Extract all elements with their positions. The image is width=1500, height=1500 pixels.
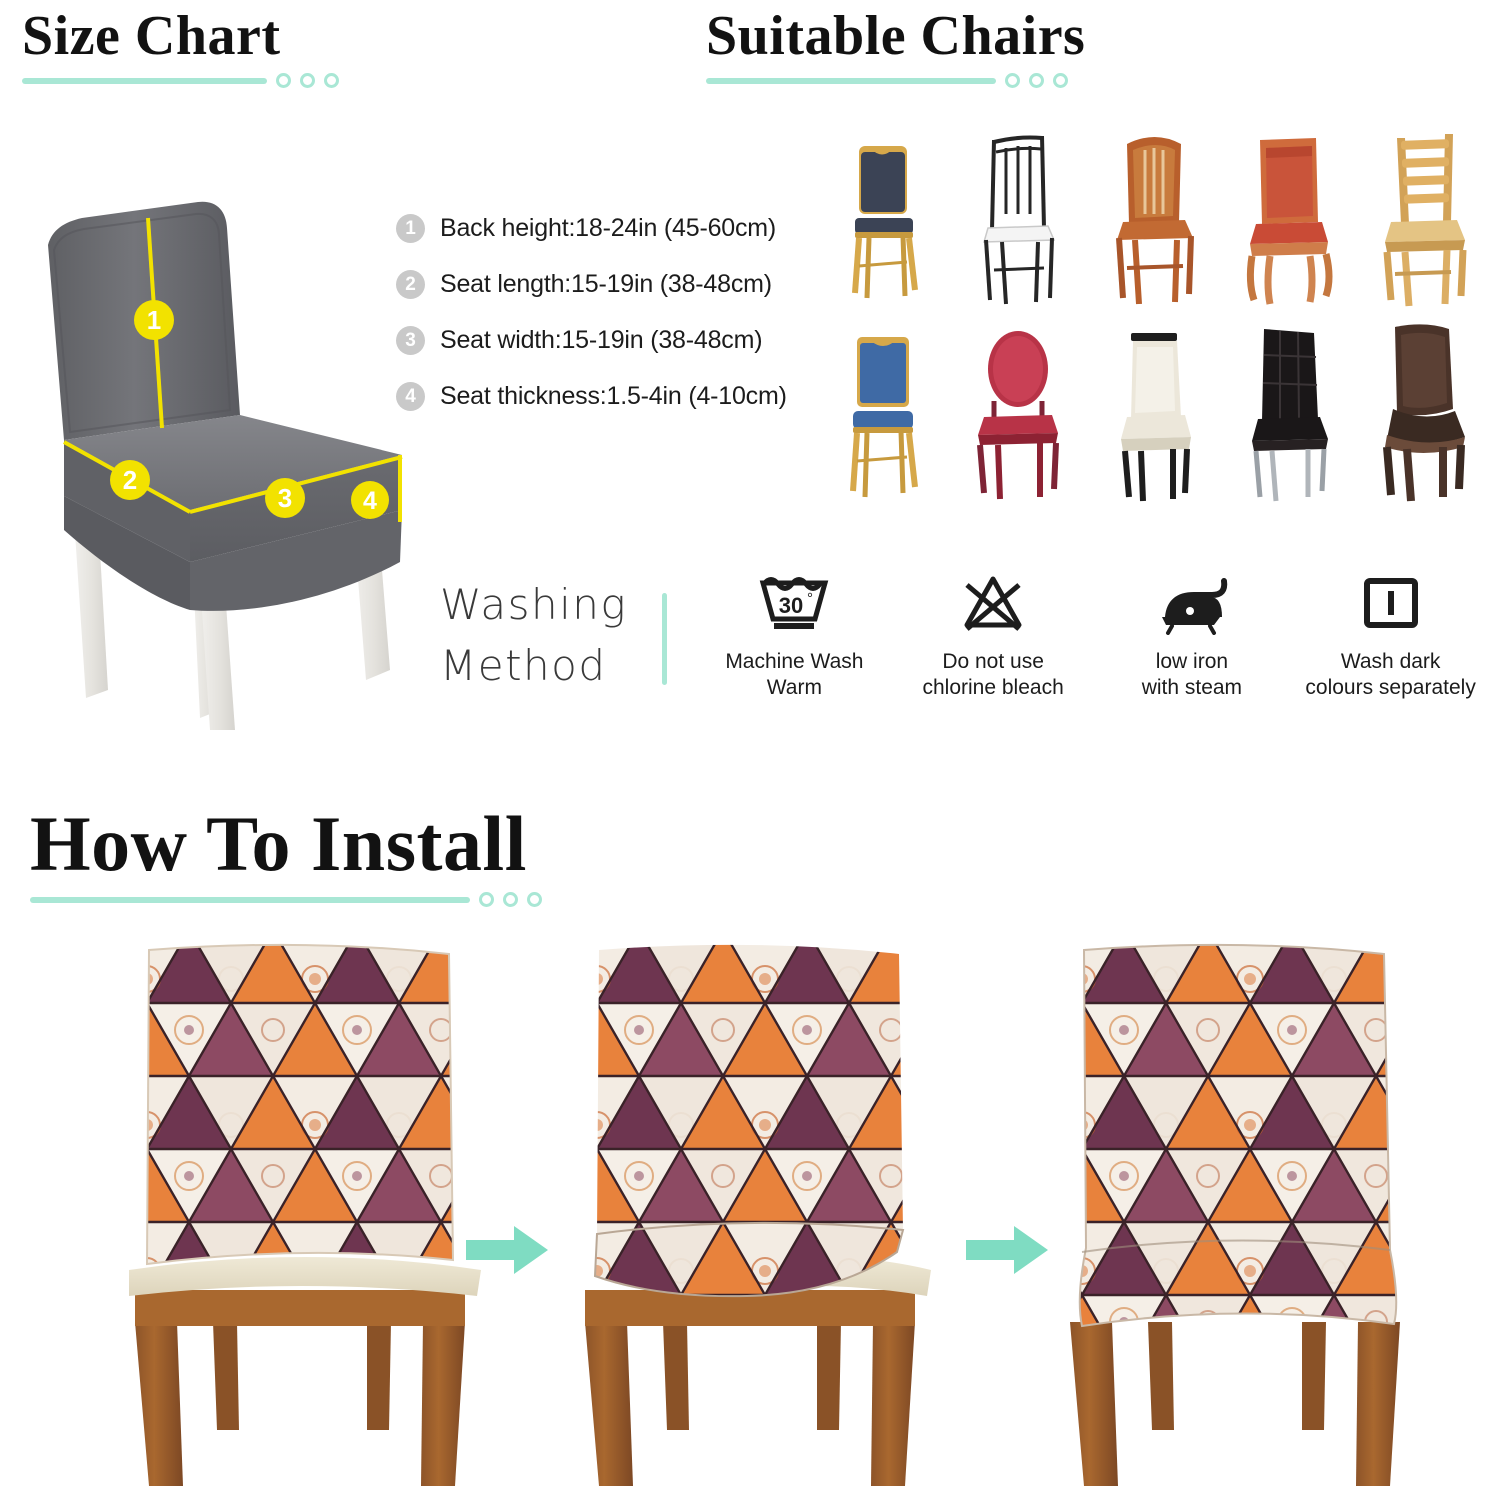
how-to-install-heading: How To Install [30,805,542,907]
no-chlorine-bleach-icon [894,565,1093,643]
measurement-label: Seat length:15-19in (38-48cm) [440,270,772,299]
care-caption-line2: chlorine bleach [894,675,1093,701]
measurement-label: Seat width:15-19in (38-48cm) [440,326,762,355]
care-caption-line2: with steam [1093,675,1292,701]
chair-cover-backrest [597,945,903,1234]
how-to-install-title: How To Install [30,805,542,883]
svg-text:2: 2 [123,465,137,495]
washing-label-line1: Washing [440,575,640,636]
care-caption-line1: Wash dark [1291,649,1490,675]
chair-cream-dining-chair-black-legs [1085,313,1220,508]
washing-icons-row: 30 ° Machine Wash Warm Do not use chlori [695,565,1490,700]
measurement-row: 1 Back height:18-24in (45-60cm) [396,200,826,256]
suitable-chairs-grid [815,118,1490,508]
marker-badge-2: 2 [110,460,150,500]
care-caption-line1: low iron [1093,649,1292,675]
washing-method-section: Washing Method 30 ° Machine Wash Warm [440,565,1490,740]
rule-bar [30,897,470,903]
chair-black-metal-chair-white-seat [950,118,1085,313]
step-arrow-2 [962,1220,1052,1280]
chair-wooden-fan-back-chair [1085,118,1220,313]
washing-method-label: Washing Method [440,575,640,697]
install-step-1-cover-on-backrest [105,930,505,1490]
measurement-badge: 3 [396,326,425,355]
wash-degree-symbol: ° [807,590,813,607]
chair-leg-front-right [871,1322,915,1486]
chair-leg-rear-left [213,1322,239,1430]
rule-dot [300,73,315,88]
marker-badge-3: 3 [265,478,305,518]
svg-text:1: 1 [147,305,161,335]
care-caption: Wash dark colours separately [1291,649,1490,700]
chair-leg-front-right [1356,1322,1400,1486]
wash-temperature: 30 [779,593,803,618]
chair-leg-rear-left [663,1322,689,1430]
chair-gold-banquet-chair-navy-seat [815,118,950,313]
chair-cover-full [1080,945,1397,1326]
chair-leg-rear-right [367,1322,391,1430]
marker-badge-1: 1 [134,300,174,340]
rule-dot [1029,73,1044,88]
care-caption: low iron with steam [1093,649,1292,700]
chair-leg-rear-left [1148,1322,1174,1430]
rule-dot [1005,73,1020,88]
washing-label-line2: Method [440,636,640,697]
rule-dot [527,892,542,907]
care-caption: Machine Wash Warm [695,649,894,700]
rule-dot [1053,73,1068,88]
chair-crimson-round-back-chair [950,313,1085,508]
care-caption-line1: Machine Wash [695,649,894,675]
size-chart-chair-illustration: 1 2 3 4 [30,110,430,730]
chair-leg-front-right [421,1322,465,1486]
care-item-no-bleach: Do not use chlorine bleach [894,565,1093,700]
care-caption-line1: Do not use [894,649,1093,675]
svg-text:4: 4 [363,487,377,515]
rule-dot [276,73,291,88]
care-caption-line2: Warm [695,675,894,701]
chair-leg-front-left [1070,1322,1118,1486]
care-caption: Do not use chlorine bleach [894,649,1093,700]
install-step-3-cover-fully-installed [1040,930,1440,1490]
chair-apron [135,1290,465,1326]
size-chart-heading: Size Chart [22,8,339,88]
suitable-chairs-heading: Suitable Chairs [706,8,1085,88]
svg-text:3: 3 [278,483,292,513]
suitable-chairs-rule [706,73,1085,88]
size-chart-rule [22,73,339,88]
rule-bar [706,78,996,84]
size-chart-title: Size Chart [22,8,339,64]
measurement-label: Seat thickness:1.5-4in (4-10cm) [440,382,787,411]
rule-bar [22,78,267,84]
chair-leg-front-left [585,1322,633,1486]
chair-cover-backrest [147,945,453,1264]
how-to-install-rule [30,892,542,907]
chair-leg-rear-right [817,1322,841,1430]
machine-wash-tub-icon: 30 ° [695,565,894,643]
measurement-label: Back height:18-24in (45-60cm) [440,214,776,243]
measurement-row: 2 Seat length:15-19in (38-48cm) [396,256,826,312]
care-item-low-iron: low iron with steam [1093,565,1292,700]
care-caption-line2: colours separately [1291,675,1490,701]
install-step-2-cover-draped-over-seat [555,930,955,1490]
washing-divider [662,593,667,685]
measurement-row: 4 Seat thickness:1.5-4in (4-10cm) [396,368,826,424]
chair-gold-banquet-chair-blue-seat [815,313,950,508]
care-item-wash-dark-separately: Wash dark colours separately [1291,565,1490,700]
measurement-list: 1 Back height:18-24in (45-60cm) 2 Seat l… [396,200,826,424]
chair-leg-rear-right [1302,1322,1326,1430]
care-item-machine-wash: 30 ° Machine Wash Warm [695,565,894,700]
step-arrow-1 [462,1220,552,1280]
chair-dark-brown-leather-chair [1355,313,1490,508]
measurement-badge: 1 [396,214,425,243]
chair-black-leather-chrome-leg-chair [1220,313,1355,508]
rule-dot [479,892,494,907]
measurement-row: 3 Seat width:15-19in (38-48cm) [396,312,826,368]
wash-dark-separately-icon [1291,565,1490,643]
chair-oak-ladder-back-chair [1355,118,1490,313]
marker-badge-4: 4 [351,481,389,519]
chair-red-upholstered-wood-chair [1220,118,1355,313]
rule-dot [324,73,339,88]
measurement-badge: 2 [396,270,425,299]
measurement-badge: 4 [396,382,425,411]
install-steps-row [0,930,1500,1490]
rule-dot [503,892,518,907]
low-iron-steam-icon [1093,565,1292,643]
suitable-chairs-title: Suitable Chairs [706,8,1085,64]
chair-leg-front-left [135,1322,183,1486]
